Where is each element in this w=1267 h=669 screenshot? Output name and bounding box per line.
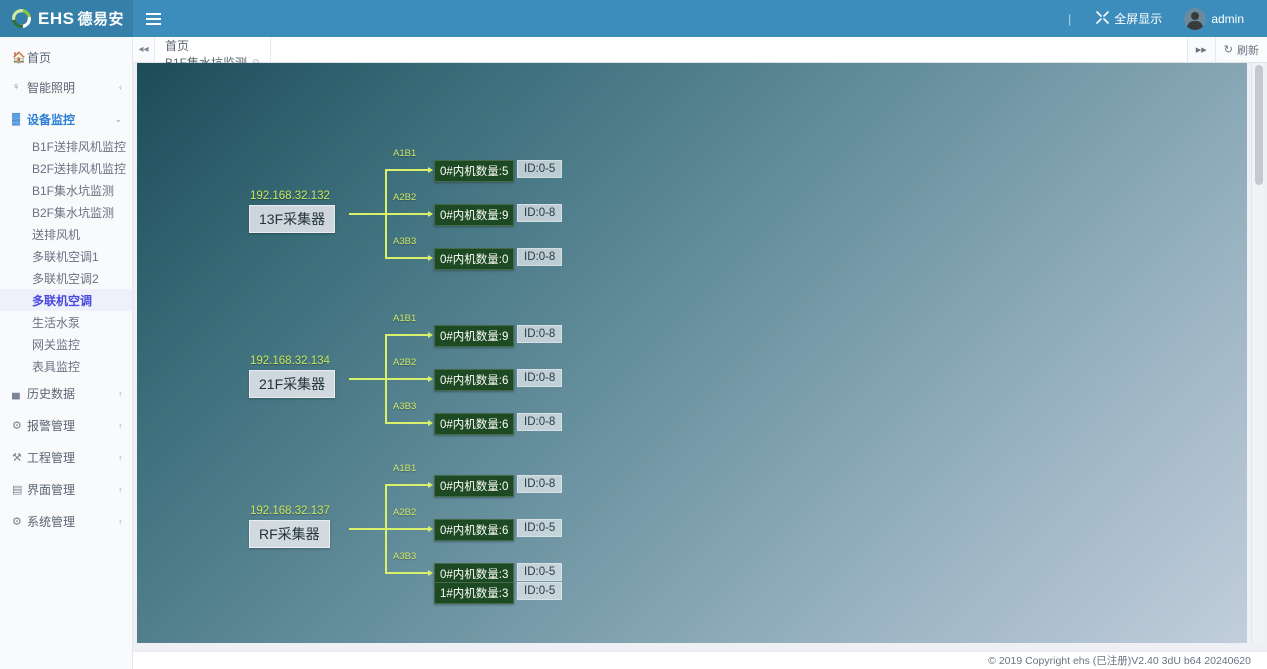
- branch-link-1-0: [385, 334, 430, 336]
- sidebar-item-1-7[interactable]: 多联机空调: [0, 289, 132, 311]
- indoor-unit-box-0-0-0[interactable]: 0#内机数量:5: [434, 160, 514, 182]
- sidebar-group-label: 智能照明: [27, 79, 119, 96]
- branch-label-0-0: A1B1: [393, 148, 416, 159]
- branch-label-2-1: A2B2: [393, 507, 416, 518]
- layout-icon: ▤: [12, 483, 27, 496]
- indoor-unit-id-2-2-1: ID:0-5: [517, 582, 562, 600]
- sidebar-item-1-10[interactable]: 表具监控: [0, 355, 132, 377]
- branch-link-2-1: [385, 528, 430, 530]
- page-footer: © 2019 Copyright ehs (已注册)V2.40 3dU b64 …: [133, 651, 1267, 669]
- double-left-icon[interactable]: ◂◂: [133, 37, 155, 62]
- branch-arrow-2-2: [428, 570, 433, 576]
- branch-link-2-2: [385, 572, 430, 574]
- sidebar-group-0[interactable]: ♀智能照明‹: [0, 71, 132, 103]
- bulb-icon: ♀: [12, 81, 27, 93]
- navbar-separator: |: [1068, 12, 1071, 26]
- chevron-left-icon: ‹: [119, 452, 122, 462]
- sidebar-item-1-2[interactable]: B1F集水坑监测: [0, 179, 132, 201]
- indoor-unit-id-0-1-0: ID:0-8: [517, 204, 562, 222]
- expand-icon: [1096, 11, 1109, 27]
- sidebar-group-5[interactable]: ▤界面管理‹: [0, 473, 132, 505]
- sidebar-group-3[interactable]: ⚙报警管理‹: [0, 409, 132, 441]
- indoor-unit-box-1-1-0[interactable]: 0#内机数量:6: [434, 369, 514, 391]
- double-right-icon[interactable]: ▸▸: [1187, 37, 1215, 62]
- top-header: EHS德易安 | 全屏显示: [0, 0, 1267, 37]
- indoor-unit-id-1-2-0: ID:0-8: [517, 413, 562, 431]
- sidebar-item-1-3[interactable]: B2F集水坑监测: [0, 201, 132, 223]
- chevron-down-icon: ⌄: [114, 114, 122, 125]
- branch-link-0-0: [385, 169, 430, 171]
- alarm-icon: ⚙: [12, 419, 27, 432]
- trunk-link-1: [349, 378, 385, 380]
- tools-icon: ⚒: [12, 451, 27, 464]
- user-menu[interactable]: admin: [1173, 0, 1255, 37]
- collector-ip-1: 192.168.32.134: [250, 355, 330, 367]
- chevron-left-icon: ‹: [119, 388, 122, 398]
- vertical-scrollbar[interactable]: [1251, 63, 1265, 643]
- chevron-left-icon: ‹: [119, 420, 122, 430]
- collector-node-2[interactable]: RF采集器: [249, 520, 330, 548]
- branch-label-2-0: A1B1: [393, 463, 416, 474]
- sidebar: 🏠 首页 ♀智能照明‹▓设备监控⌄B1F送排风机监控B2F送排风机监控B1F集水…: [0, 37, 133, 669]
- chart-icon: ▄: [12, 387, 27, 399]
- home-icon: 🏠: [12, 51, 27, 64]
- indoor-unit-box-0-2-0[interactable]: 0#内机数量:0: [434, 248, 514, 270]
- branch-label-2-2: A3B3: [393, 551, 416, 562]
- branch-arrow-0-2: [428, 255, 433, 261]
- sidebar-item-1-9[interactable]: 网关监控: [0, 333, 132, 355]
- indoor-unit-box-0-1-0[interactable]: 0#内机数量:9: [434, 204, 514, 226]
- sidebar-item-1-6[interactable]: 多联机空调2: [0, 267, 132, 289]
- indoor-unit-id-0-0-0: ID:0-5: [517, 160, 562, 178]
- chevron-left-icon: ‹: [119, 516, 122, 526]
- branch-label-1-0: A1B1: [393, 313, 416, 324]
- indoor-unit-box-2-2-1[interactable]: 1#内机数量:3: [434, 582, 514, 604]
- sidebar-group-1[interactable]: ▓设备监控⌄: [0, 103, 132, 135]
- tab-list: 首页B1F集水坑监测⊙B2F集水坑监测⊙送排风机⊙多联机空调1⊙多联机空调2⊙多…: [155, 37, 271, 62]
- tab-bar-controls: ▸▸ ↻ 刷新: [1187, 37, 1267, 62]
- copyright-text: © 2019 Copyright ehs (已注册)V2.40 3dU b64 …: [988, 653, 1251, 668]
- tab-0[interactable]: 首页: [155, 37, 271, 54]
- sidebar-item-1-5[interactable]: 多联机空调1: [0, 245, 132, 267]
- sidebar-item-1-8[interactable]: 生活水泵: [0, 311, 132, 333]
- branch-label-1-1: A2B2: [393, 357, 416, 368]
- indoor-unit-id-2-0-0: ID:0-8: [517, 475, 562, 493]
- tab-label: 首页: [165, 37, 189, 54]
- branch-link-0-2: [385, 257, 430, 259]
- indoor-unit-box-1-2-0[interactable]: 0#内机数量:6: [434, 413, 514, 435]
- branch-link-2-0: [385, 484, 430, 486]
- indoor-unit-box-2-0-0[interactable]: 0#内机数量:0: [434, 475, 514, 497]
- hamburger-menu-icon[interactable]: [133, 0, 173, 37]
- refresh-icon: ↻: [1224, 43, 1233, 56]
- recycle-logo-icon: [12, 9, 31, 28]
- indoor-unit-id-0-2-0: ID:0-8: [517, 248, 562, 266]
- branch-arrow-1-0: [428, 332, 433, 338]
- refresh-label: 刷新: [1237, 42, 1259, 58]
- branch-label-1-2: A3B3: [393, 401, 416, 412]
- branch-arrow-0-1: [428, 211, 433, 217]
- collector-node-0[interactable]: 13F采集器: [249, 205, 335, 233]
- indoor-unit-id-2-2-0: ID:0-5: [517, 563, 562, 581]
- fullscreen-label: 全屏显示: [1114, 10, 1162, 27]
- branch-label-0-1: A2B2: [393, 192, 416, 203]
- sidebar-group-label: 历史数据: [27, 385, 119, 402]
- tab-bar: ◂◂ 首页B1F集水坑监测⊙B2F集水坑监测⊙送排风机⊙多联机空调1⊙多联机空调…: [133, 37, 1267, 63]
- refresh-button[interactable]: ↻ 刷新: [1215, 37, 1267, 62]
- indoor-unit-id-1-1-0: ID:0-8: [517, 369, 562, 387]
- indoor-unit-box-2-1-0[interactable]: 0#内机数量:6: [434, 519, 514, 541]
- sidebar-group-6[interactable]: ⚙系统管理‹: [0, 505, 132, 537]
- indoor-unit-box-1-0-0[interactable]: 0#内机数量:9: [434, 325, 514, 347]
- indoor-unit-id-1-0-0: ID:0-8: [517, 325, 562, 343]
- sidebar-group-label: 界面管理: [27, 481, 119, 498]
- sidebar-group-label: 设备监控: [27, 111, 114, 128]
- sidebar-group-label: 系统管理: [27, 513, 119, 530]
- brand-cn: 德易安: [77, 11, 124, 28]
- sidebar-menu: ♀智能照明‹▓设备监控⌄B1F送排风机监控B2F送排风机监控B1F集水坑监测B2…: [0, 71, 132, 537]
- sidebar-item-home-label: 首页: [27, 49, 122, 66]
- avatar: [1184, 8, 1206, 30]
- branch-arrow-2-1: [428, 526, 433, 532]
- fullscreen-button[interactable]: 全屏显示: [1085, 0, 1173, 37]
- branch-link-1-2: [385, 422, 430, 424]
- monitor-icon: ▓: [12, 113, 27, 125]
- brand-short: EHS: [38, 9, 74, 28]
- sidebar-group-2[interactable]: ▄历史数据‹: [0, 377, 132, 409]
- branch-link-0-1: [385, 213, 430, 215]
- gear-icon: ⚙: [12, 515, 27, 528]
- branch-label-0-2: A3B3: [393, 236, 416, 247]
- sidebar-group-label: 报警管理: [27, 417, 119, 434]
- indoor-unit-id-2-1-0: ID:0-5: [517, 519, 562, 537]
- sidebar-item-1-1[interactable]: B2F送排风机监控: [0, 157, 132, 179]
- trunk-link-2: [349, 528, 385, 530]
- collector-ip-2: 192.168.32.137: [250, 505, 330, 517]
- chevron-left-icon: ‹: [119, 82, 122, 92]
- sidebar-group-4[interactable]: ⚒工程管理‹: [0, 441, 132, 473]
- branch-link-1-1: [385, 378, 430, 380]
- trunk-link-0: [349, 213, 385, 215]
- branch-arrow-2-0: [428, 482, 433, 488]
- navbar-right: | 全屏显示 admin: [1068, 0, 1267, 37]
- chevron-left-icon: ‹: [119, 484, 122, 494]
- brand-text: EHS德易安: [38, 8, 124, 29]
- navbar: | 全屏显示 admin: [133, 0, 1267, 37]
- branch-arrow-1-2: [428, 420, 433, 426]
- sidebar-item-1-4[interactable]: 送排风机: [0, 223, 132, 245]
- collector-ip-0: 192.168.32.132: [250, 190, 330, 202]
- collector-node-1[interactable]: 21F采集器: [249, 370, 335, 398]
- diagram-canvas[interactable]: 192.168.32.13213F采集器A1B10#内机数量:5ID:0-5A2…: [137, 63, 1247, 643]
- sidebar-item-1-0[interactable]: B1F送排风机监控: [0, 135, 132, 157]
- sidebar-item-home[interactable]: 🏠 首页: [0, 44, 132, 71]
- sidebar-group-label: 工程管理: [27, 449, 119, 466]
- branch-arrow-0-0: [428, 167, 433, 173]
- branch-arrow-1-1: [428, 376, 433, 382]
- user-name: admin: [1211, 12, 1244, 26]
- sidebar-submenu-1: B1F送排风机监控B2F送排风机监控B1F集水坑监测B2F集水坑监测送排风机多联…: [0, 135, 132, 377]
- diagram-viewport: 192.168.32.13213F采集器A1B10#内机数量:5ID:0-5A2…: [133, 63, 1267, 651]
- brand-logo[interactable]: EHS德易安: [0, 0, 133, 37]
- scrollbar-thumb[interactable]: [1255, 65, 1263, 185]
